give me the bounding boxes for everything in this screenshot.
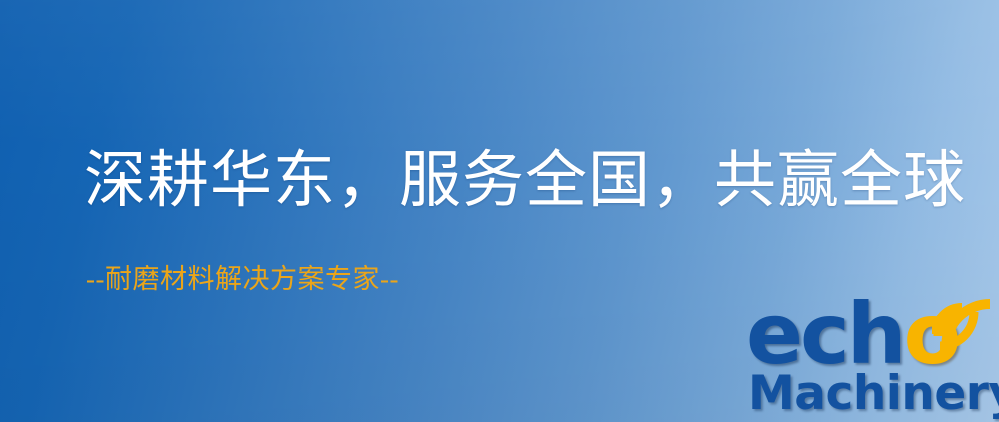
banner-headline: 深耕华东，服务全国，共赢全球: [84, 150, 966, 212]
logo-wordmark: ech o: [746, 296, 959, 372]
echo-machinery-logo: ech o Machinery ®: [746, 296, 996, 422]
banner-subtitle: --耐磨材料解决方案专家--: [86, 266, 399, 293]
logo-text-ech: ech: [746, 296, 904, 373]
logo-text-machinery: Machinery: [748, 370, 999, 417]
promo-banner: 深耕华东，服务全国，共赢全球 --耐磨材料解决方案专家-- ech o: [0, 0, 999, 422]
logo-tagline: Machinery ®: [748, 370, 999, 417]
signal-waves-icon: [932, 290, 996, 354]
